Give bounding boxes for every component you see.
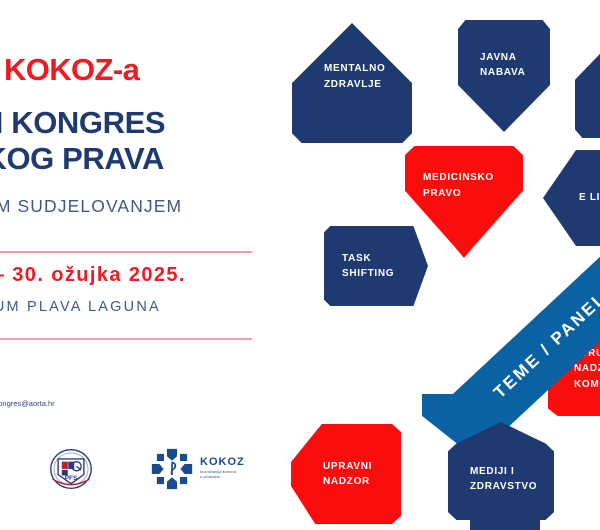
poster-contact: w.aorta.hr taktirajte: kongres@aorta.hr: [0, 386, 55, 409]
topic-label-line-1: STRUČN: [574, 346, 600, 362]
divider-top: [0, 251, 252, 253]
topic-task-shifting[interactable]: TASK SHIFTING: [324, 226, 428, 306]
contact-website: w.aorta.hr: [0, 386, 55, 398]
topic-label-line-1: MEDICINSKO: [423, 170, 494, 186]
topic-label-line-2: NADZOR: [574, 361, 600, 377]
topic-label-line-2: PRAVO: [423, 186, 461, 202]
poster-title-line-2: INSKOG PRAVA: [0, 141, 165, 177]
kokoz-logo: KOKOZ koordinacija komora u zdravstvu: [150, 448, 270, 490]
contact-email: taktirajte: kongres@aorta.hr: [0, 398, 55, 410]
topic-label-line-3: KOMOR: [574, 377, 600, 393]
poster-venue: ENTIUM PLAVA LAGUNA: [0, 299, 161, 315]
poster-kicker: RES KOKOZ-a: [0, 52, 139, 88]
divider-bottom: [0, 338, 252, 340]
pfs-crest-icon: PFS: [48, 446, 94, 492]
topic-label-line-1: TASK: [342, 251, 371, 267]
topic-label-line-2: NABAVA: [480, 65, 526, 81]
svg-text:PFS: PFS: [65, 475, 78, 482]
logo-row: PFS KOKOZ: [40, 446, 270, 492]
topic-e-lijecenje[interactable]: E LIJEČ: [543, 150, 600, 246]
kokoz-tagline-line-2: u zdravstvu: [200, 475, 236, 480]
kokoz-mark-icon: [150, 448, 194, 490]
topic-po[interactable]: PO: [575, 32, 600, 138]
topic-label-line-1: E LIJEČ: [579, 190, 600, 206]
topic-javna-nabava[interactable]: JAVNA NABAVA: [458, 20, 550, 132]
topic-upravni-nadzor[interactable]: UPRAVNI NADZOR: [291, 424, 401, 524]
topic-strucni-nadzori-komora[interactable]: STRUČN NADZOR KOMOR: [548, 322, 600, 416]
topic-label-line-1: MENTALNO: [324, 61, 386, 77]
topic-shape-field: MENTALNO ZDRAVLJE JAVNA NABAVA PO MEDICI…: [280, 0, 600, 529]
topic-medicinsko-pravo[interactable]: MEDICINSKO PRAVO: [405, 146, 523, 258]
kokoz-wordmark: KOKOZ: [200, 456, 245, 468]
poster-dates: . — 30. ožujka 2025.: [0, 264, 186, 287]
topic-label-line-2: SHIFTING: [342, 266, 394, 282]
poster-text-panel: RES KOKOZ-a TSKI KONGRES INSKOG PRAVA RO…: [0, 0, 300, 529]
kokoz-tagline: koordinacija komora u zdravstvu: [200, 470, 236, 481]
poster-title: TSKI KONGRES INSKOG PRAVA: [0, 105, 165, 178]
topic-label-line-1: JAVNA: [480, 50, 517, 66]
topic-label-line-1: MEDIJI I: [470, 464, 515, 480]
poster-title-line-1: TSKI KONGRES: [0, 105, 165, 140]
topic-label-line-2: NADZOR: [323, 474, 370, 490]
poster-subtitle: RODNIM SUDJELOVANJEM: [0, 196, 182, 217]
topic-label-line-2: ZDRAVSTVO: [470, 479, 537, 495]
topic-mentalno-zdravlje[interactable]: MENTALNO ZDRAVLJE: [292, 23, 412, 143]
topic-label-line-2: ZDRAVLJE: [324, 77, 382, 93]
topic-label-line-1: UPRAVNI: [323, 459, 372, 475]
